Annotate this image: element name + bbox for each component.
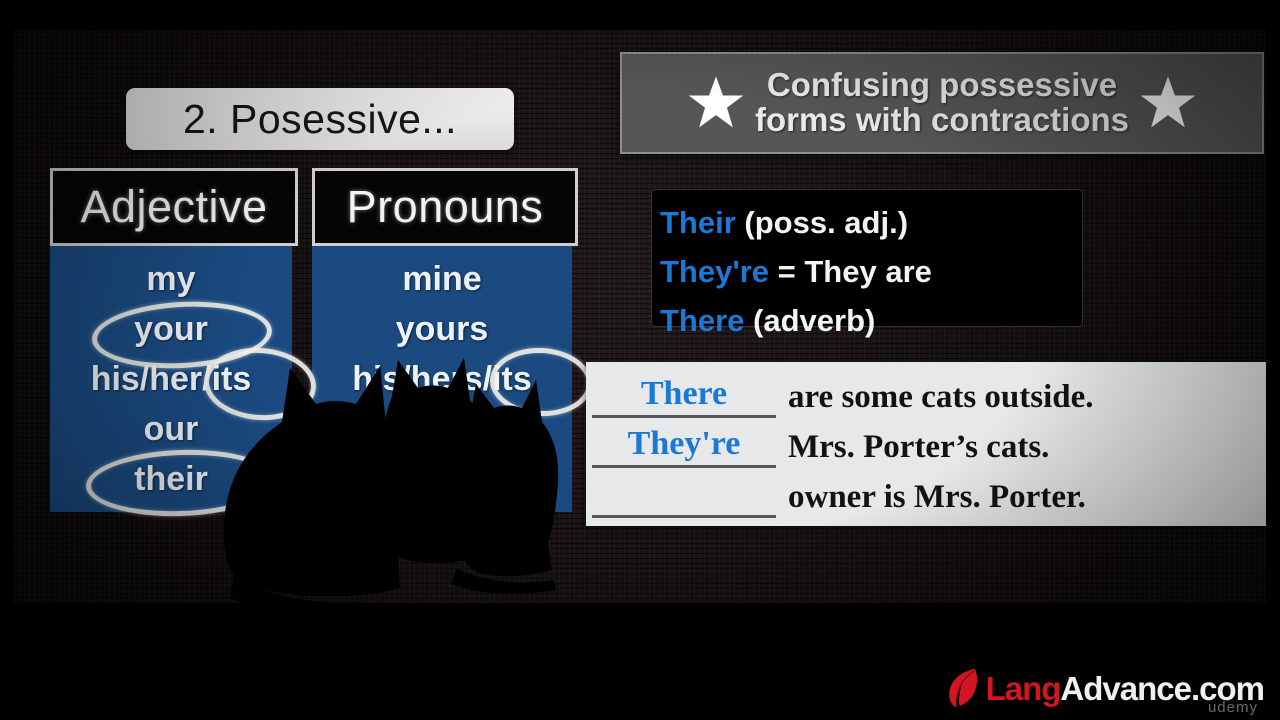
answer-blank bbox=[592, 515, 776, 518]
answer-blank: There bbox=[592, 373, 776, 418]
example-row: They're Mrs. Porter’s cats. bbox=[586, 418, 1266, 468]
word-item: our bbox=[50, 404, 292, 454]
definition-rest: = They are bbox=[769, 254, 932, 289]
word-item: his/hers/its bbox=[312, 354, 572, 404]
example-row: There are some cats outside. bbox=[586, 368, 1266, 418]
example-row: owner is Mrs. Porter. bbox=[586, 468, 1266, 518]
example-sentence: are some cats outside. bbox=[788, 376, 1094, 418]
slide-canvas: 2. Posessive... Adjective Pronouns my yo… bbox=[14, 30, 1266, 675]
word-item: his/her/its bbox=[50, 354, 292, 404]
star-icon bbox=[1139, 74, 1197, 132]
column-header-label: Adjective bbox=[80, 181, 267, 233]
word-item: theirs bbox=[312, 454, 572, 504]
definition-row: Their (poss. adj.) bbox=[660, 198, 1082, 247]
definition-keyword: Their bbox=[660, 205, 736, 240]
word-item: mine bbox=[312, 254, 572, 304]
page-title: 2. Posessive... bbox=[183, 96, 457, 143]
example-sentence: owner is Mrs. Porter. bbox=[788, 476, 1086, 518]
example-sentences-box: There are some cats outside. They're Mrs… bbox=[586, 362, 1266, 526]
brand-name-part1: Lang bbox=[986, 670, 1061, 707]
leaf-icon bbox=[946, 667, 980, 711]
word-item: yours bbox=[312, 304, 572, 354]
video-frame: 2. Posessive... Adjective Pronouns my yo… bbox=[0, 0, 1280, 720]
adjective-word-list: my your his/her/its our their bbox=[50, 246, 292, 512]
star-icon bbox=[687, 74, 745, 132]
definition-row: They're = They are bbox=[660, 247, 1082, 296]
banner-text: Confusing possessive forms with contract… bbox=[755, 68, 1129, 137]
word-item: ours bbox=[312, 404, 572, 454]
word-item: your bbox=[50, 304, 292, 354]
definition-keyword: They're bbox=[660, 254, 769, 289]
brand-logo: LangAdvance.com udemy bbox=[946, 666, 1264, 712]
word-item: their bbox=[50, 454, 292, 504]
definition-rest: (adverb) bbox=[744, 303, 875, 338]
udemy-watermark: udemy bbox=[1208, 699, 1258, 716]
pronoun-word-list: mine yours his/hers/its ours theirs bbox=[312, 246, 572, 512]
definition-rest: (poss. adj.) bbox=[736, 205, 908, 240]
example-sentence: Mrs. Porter’s cats. bbox=[788, 426, 1049, 468]
definition-row: There (adverb) bbox=[660, 296, 1082, 345]
contractions-slide: Confusing possessive forms with contract… bbox=[606, 30, 1266, 630]
word-item: my bbox=[50, 254, 292, 304]
banner-line-1: Confusing possessive bbox=[755, 68, 1129, 103]
answer-blank: They're bbox=[592, 423, 776, 468]
possessive-table-slide: 2. Posessive... Adjective Pronouns my yo… bbox=[14, 30, 614, 630]
overlay-word-their: Their bbox=[452, 500, 548, 547]
banner-heading: Confusing possessive forms with contract… bbox=[620, 52, 1264, 154]
column-header-adjective: Adjective bbox=[50, 168, 298, 246]
definition-keyword: There bbox=[660, 303, 744, 338]
definition-box: Their (poss. adj.) They're = They are Th… bbox=[652, 190, 1082, 326]
slide-title-chip: 2. Posessive... bbox=[126, 88, 514, 150]
column-header-label: Pronouns bbox=[347, 181, 544, 233]
column-header-pronouns: Pronouns bbox=[312, 168, 578, 246]
bottom-black-band bbox=[14, 603, 1266, 675]
banner-line-2: forms with contractions bbox=[755, 103, 1129, 138]
